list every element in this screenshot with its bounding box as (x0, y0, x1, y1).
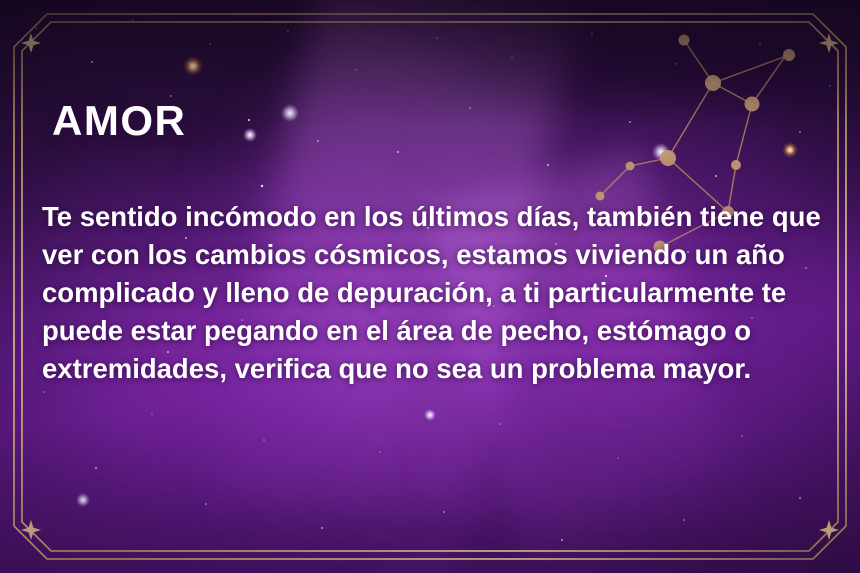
horoscope-amor-card: AMOR Te sentido incómodo en los últimos … (0, 0, 860, 573)
text-content-block: AMOR Te sentido incómodo en los últimos … (52, 0, 824, 573)
horoscope-body-text: Te sentido incómodo en los últimos días,… (42, 198, 832, 388)
page-title: AMOR (52, 97, 186, 145)
